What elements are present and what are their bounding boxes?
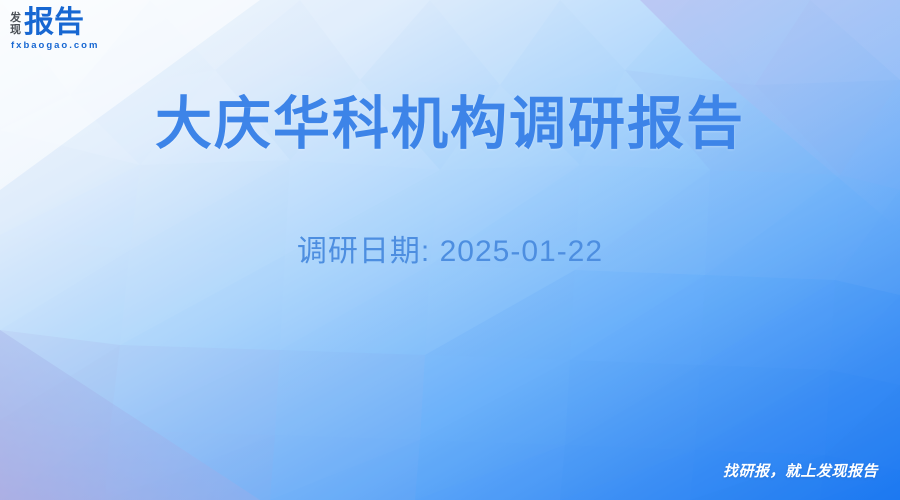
logo-mark-fxian: 发 现: [10, 10, 21, 36]
logo-row: 发 现 报告: [10, 8, 84, 38]
logo-domain-text: fxbaogao.com: [11, 40, 99, 51]
footer-slogan: 找研报，就上发现报告: [723, 462, 878, 482]
logo-wordmark: 报告: [24, 8, 84, 38]
logo-mark-char-top: 发: [10, 12, 21, 24]
logo-mark-char-bottom: 现: [10, 24, 21, 36]
logo-block: 发 现 报告 fxbaogao.com: [10, 8, 99, 51]
low-poly-background: [0, 0, 900, 500]
site-logo[interactable]: 发 现 报告 fxbaogao.com: [10, 8, 99, 51]
report-cover-page: 发 现 报告 fxbaogao.com 大庆华科机构调研报告 调研日期: 202…: [0, 0, 900, 500]
